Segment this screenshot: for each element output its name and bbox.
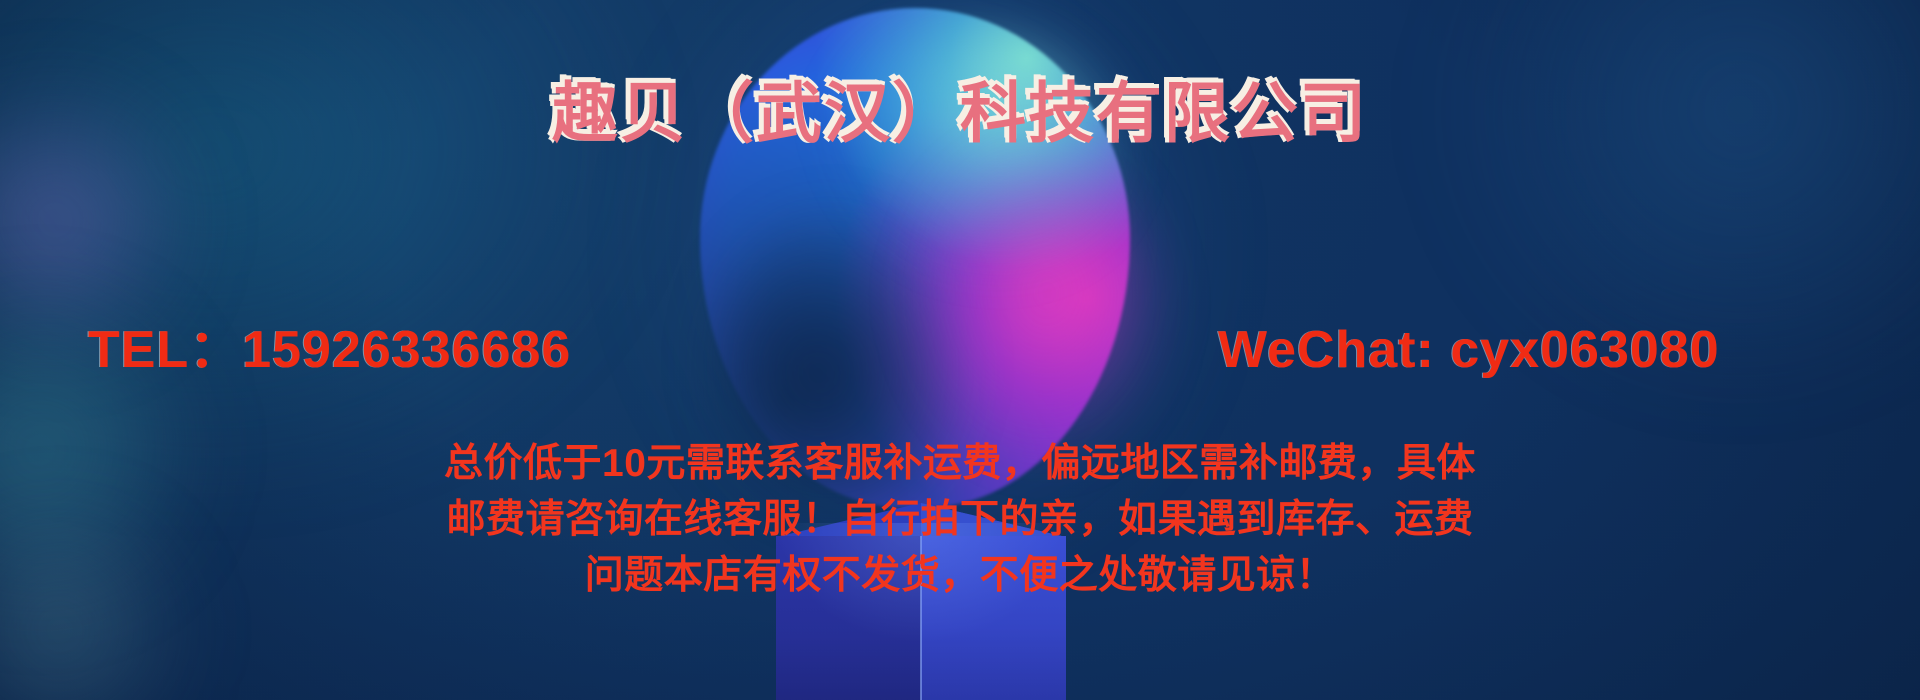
promo-banner: 趣贝（武汉）科技有限公司 TEL：15926336686 WeChat: cyx… xyxy=(0,0,1920,700)
notice-line: 问题本店有权不发货，不便之处敬请见谅！ xyxy=(0,548,1920,604)
notice-line: 邮费请咨询在线客服！自行拍下的亲，如果遇到库存、运费 xyxy=(0,492,1920,548)
contact-row: TEL：15926336686 WeChat: cyx063080 xyxy=(0,318,1920,382)
wechat-text: WeChat: cyx063080 xyxy=(1218,318,1720,382)
sphere-teal-highlight xyxy=(820,32,1120,282)
shipping-notice: 总价低于10元需联系客服补运费，偏远地区需补邮费，具体 邮费请咨询在线客服！自行… xyxy=(0,436,1920,604)
notice-line: 总价低于10元需联系客服补运费，偏远地区需补邮费，具体 xyxy=(0,436,1920,492)
company-title: 趣贝（武汉）科技有限公司 xyxy=(0,80,1920,146)
telephone-text: TEL：15926336686 xyxy=(88,318,571,382)
